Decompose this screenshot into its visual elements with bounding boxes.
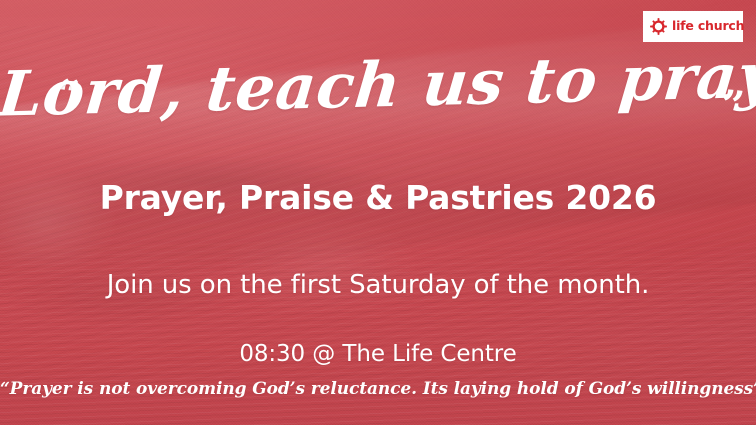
headline-block: ” Lord, teach us to pray. ”: [0, 52, 756, 117]
invitation-line: Join us on the first Saturday of the mon…: [0, 270, 756, 300]
event-subtitle: Prayer, Praise & Pastries 2026: [0, 178, 756, 217]
presentation-slide: life church ” Lord, teach us to pray. ” …: [0, 0, 756, 425]
logo-text: life church: [672, 20, 744, 33]
time-and-venue: 08:30 @ The Life Centre: [0, 341, 756, 367]
footer-quotation: “Prayer is not overcoming God’s reluctan…: [0, 379, 756, 399]
life-church-logo: life church: [643, 11, 743, 42]
headline-text: Lord, teach us to pray.: [0, 42, 756, 126]
sunburst-icon: [650, 18, 667, 35]
slide-content: life church ” Lord, teach us to pray. ” …: [0, 0, 756, 425]
closing-quote-mark: ”: [719, 85, 746, 127]
